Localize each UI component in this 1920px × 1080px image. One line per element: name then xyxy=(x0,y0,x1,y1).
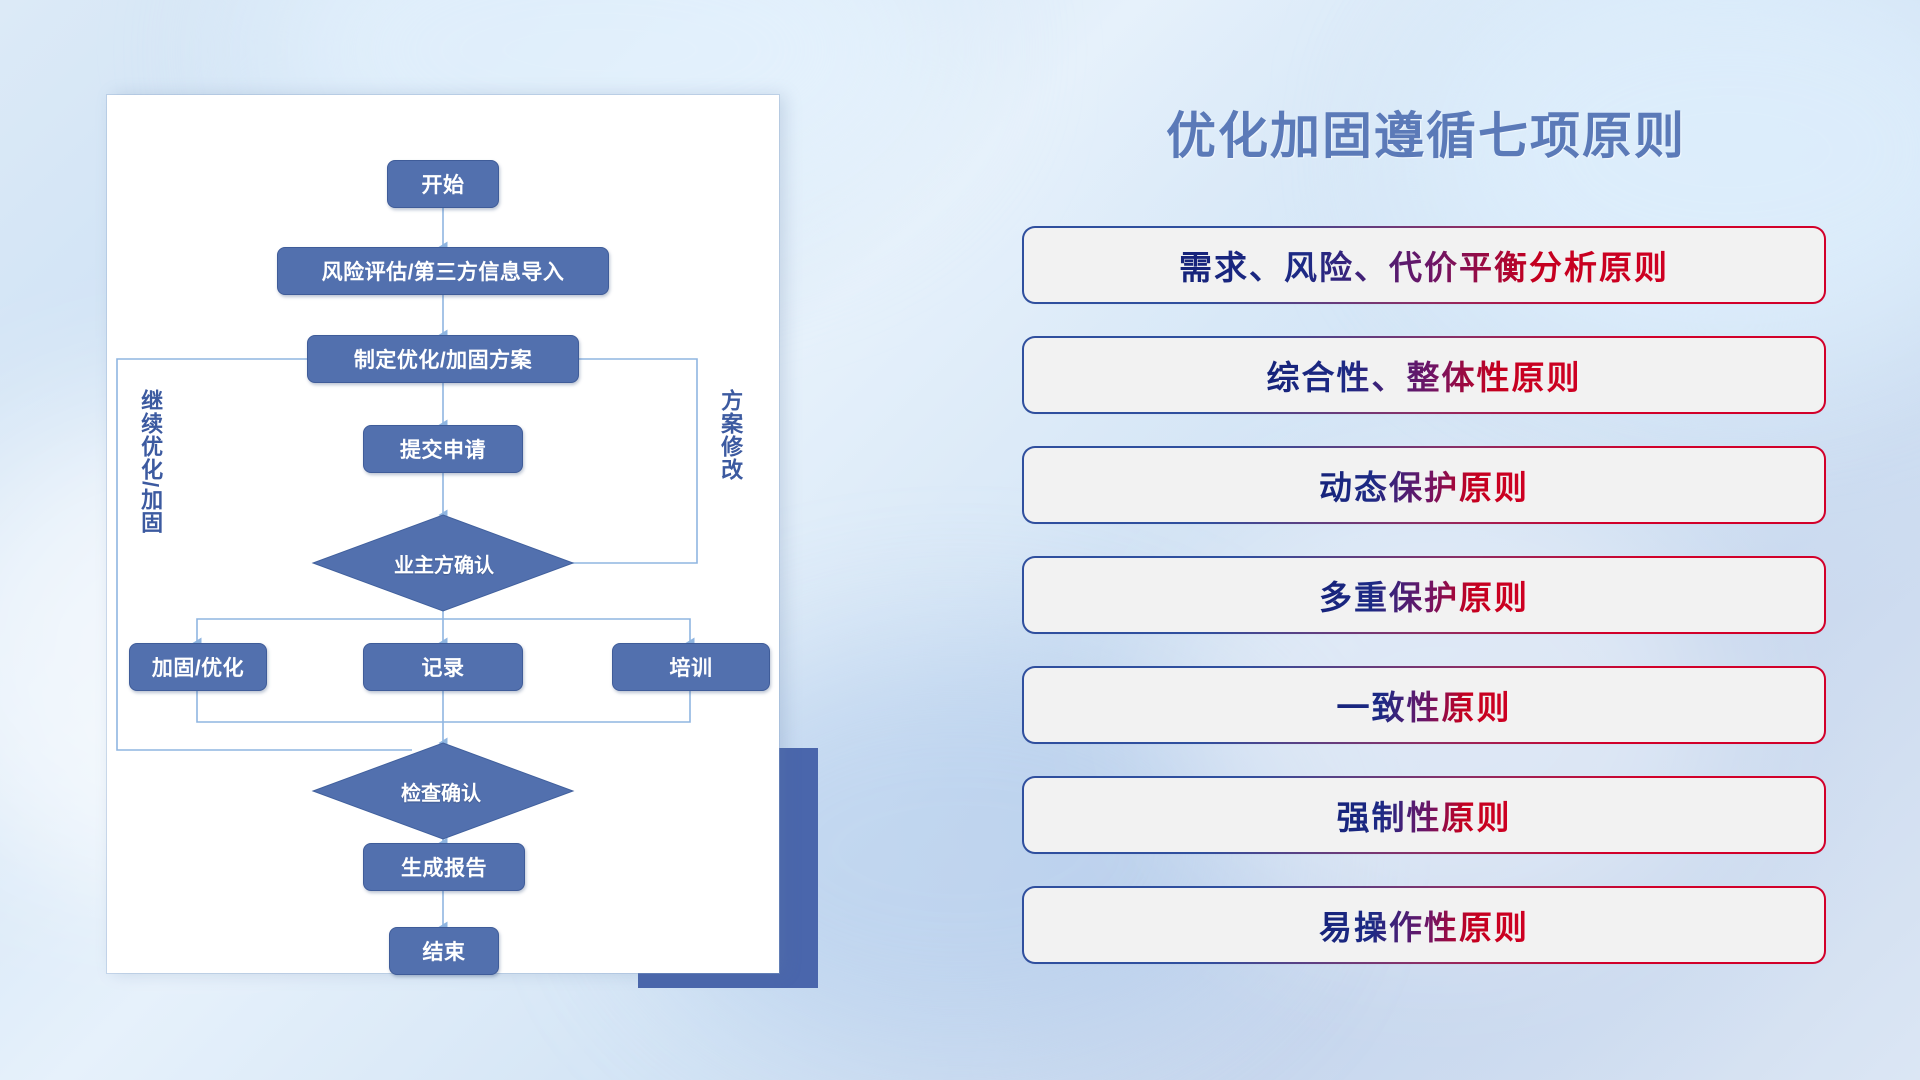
slide-root: 开始 风险评估/第三方信息导入 制定优化/加固方案 提交申请 业主方确认 加固/… xyxy=(0,0,1920,1080)
flow-node-end[interactable]: 结束 xyxy=(389,927,499,975)
flow-node-record[interactable]: 记录 xyxy=(363,643,523,691)
principle-item-6-label: 强制性原则 xyxy=(1337,791,1512,839)
flow-node-inspect-label: 检查确认 xyxy=(401,777,481,806)
flow-node-risk-assessment-label: 风险评估/第三方信息导入 xyxy=(322,256,565,286)
flowchart-card: 开始 风险评估/第三方信息导入 制定优化/加固方案 提交申请 业主方确认 加固/… xyxy=(107,95,779,973)
principle-item-3-label: 动态保护原则 xyxy=(1319,461,1529,509)
flow-edge-label-continue-optimize: 继续优化/加固 xyxy=(139,389,162,579)
flow-node-report-label: 生成报告 xyxy=(401,852,487,882)
flow-node-submit[interactable]: 提交申请 xyxy=(363,425,523,473)
principle-item-1[interactable]: 需求、风险、代价平衡分析原则 xyxy=(1024,228,1824,302)
flow-node-report[interactable]: 生成报告 xyxy=(363,843,525,891)
flow-node-plan[interactable]: 制定优化/加固方案 xyxy=(307,335,579,383)
page-title: 优化加固遵循七项原则 xyxy=(1020,96,1832,168)
principle-item-5[interactable]: 一致性原则 xyxy=(1024,668,1824,742)
flow-node-reinforce[interactable]: 加固/优化 xyxy=(129,643,267,691)
flow-node-training[interactable]: 培训 xyxy=(612,643,770,691)
principle-item-1-label: 需求、风险、代价平衡分析原则 xyxy=(1179,241,1669,289)
principle-item-3[interactable]: 动态保护原则 xyxy=(1024,448,1824,522)
flow-node-submit-label: 提交申请 xyxy=(400,434,486,464)
flow-node-plan-label: 制定优化/加固方案 xyxy=(354,344,532,374)
principles-panel: 优化加固遵循七项原则 需求、风险、代价平衡分析原则 综合性、整体性原则 动态保护… xyxy=(1020,96,1832,996)
flow-node-record-label: 记录 xyxy=(422,652,465,682)
flow-edge-label-plan-revision: 方案修改 xyxy=(719,389,742,539)
principle-item-4-label: 多重保护原则 xyxy=(1319,571,1529,619)
flow-node-risk-assessment[interactable]: 风险评估/第三方信息导入 xyxy=(277,247,609,295)
principles-list: 需求、风险、代价平衡分析原则 综合性、整体性原则 动态保护原则 多重保护原则 一… xyxy=(1024,228,1824,998)
flowchart: 开始 风险评估/第三方信息导入 制定优化/加固方案 提交申请 业主方确认 加固/… xyxy=(107,95,779,973)
principle-item-7-label: 易操作性原则 xyxy=(1319,901,1529,949)
flowchart-connectors xyxy=(107,95,779,973)
flow-node-owner-confirm-label: 业主方确认 xyxy=(394,549,494,578)
principle-item-2-label: 综合性、整体性原则 xyxy=(1267,351,1582,399)
principle-item-7[interactable]: 易操作性原则 xyxy=(1024,888,1824,962)
flow-node-start-label: 开始 xyxy=(422,169,465,199)
principle-item-6[interactable]: 强制性原则 xyxy=(1024,778,1824,852)
flow-node-training-label: 培训 xyxy=(670,652,713,682)
flow-node-start[interactable]: 开始 xyxy=(387,160,499,208)
principle-item-5-label: 一致性原则 xyxy=(1337,681,1512,729)
principle-item-2[interactable]: 综合性、整体性原则 xyxy=(1024,338,1824,412)
flow-node-reinforce-label: 加固/优化 xyxy=(152,652,244,682)
flow-node-end-label: 结束 xyxy=(423,936,466,966)
principle-item-4[interactable]: 多重保护原则 xyxy=(1024,558,1824,632)
